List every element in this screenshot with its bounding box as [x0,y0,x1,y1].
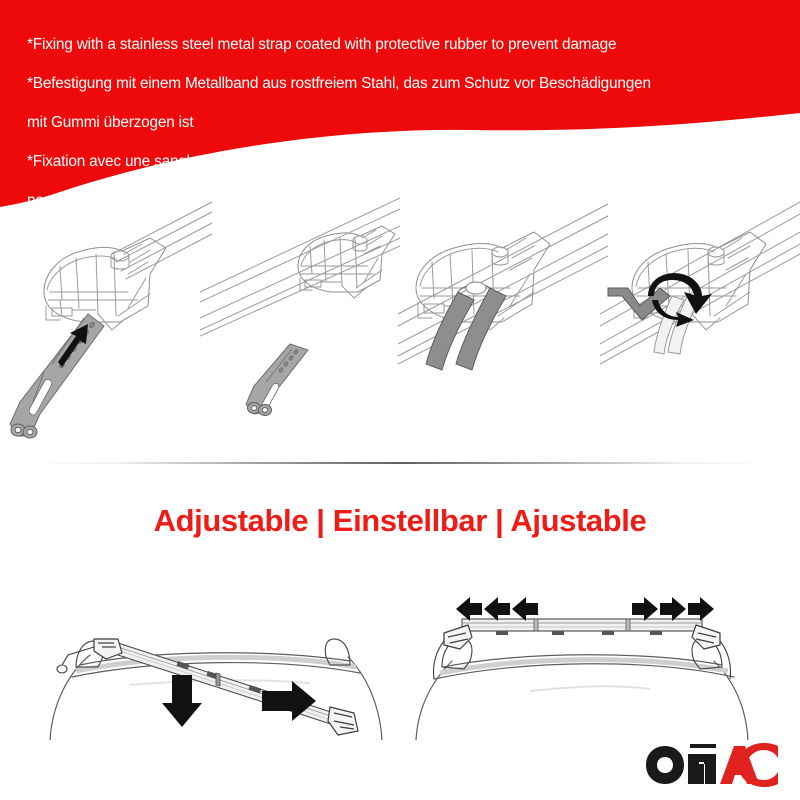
banner-line-fr-1: *Fixation avec une sangle en métal inoxy… [27,152,782,171]
banner-line-de-1: *Befestigung mit einem Metallband aus ro… [27,74,782,93]
assembly-steps-panel [0,196,800,458]
red-banner: *Fixing with a stainless steel metal str… [0,0,800,215]
step-1-drawing [0,196,212,458]
step-4-drawing [600,196,800,458]
logo-letter-m [688,744,716,784]
roof-front-view-drawing [400,555,790,740]
banner-line-de-2: mit Gummi überzogen ist [27,113,782,132]
triple-left-arrow [456,597,538,621]
banner-line-fr-2: pour éviter les dommages. [27,191,782,210]
banner-description: *Fixing with a stainless steel metal str… [27,16,782,215]
step-3-drawing [398,196,608,458]
logo-letter-o [646,746,684,784]
step-3-illustration [398,196,608,458]
metal-strap-part [10,314,104,438]
step-1-illustration [0,196,212,458]
section-title: Adjustable | Einstellbar | Ajustable [0,503,800,539]
metal-strap-part [246,344,308,416]
section-divider [30,462,770,464]
omac-logo [642,742,782,788]
step-2-drawing [200,196,400,458]
roof-views-panel [0,555,800,740]
roof-front-view-illustration [400,555,790,740]
step-2-illustration [200,196,400,458]
roof-side-view-drawing [10,555,400,740]
triple-right-arrow [632,597,714,621]
banner-line-en: *Fixing with a stainless steel metal str… [27,35,782,54]
omac-logo-mark [642,742,782,788]
cross-bar [433,619,730,679]
product-infographic: *Fixing with a stainless steel metal str… [0,0,800,800]
step-4-illustration [600,196,800,458]
roof-side-view-illustration [10,555,400,740]
